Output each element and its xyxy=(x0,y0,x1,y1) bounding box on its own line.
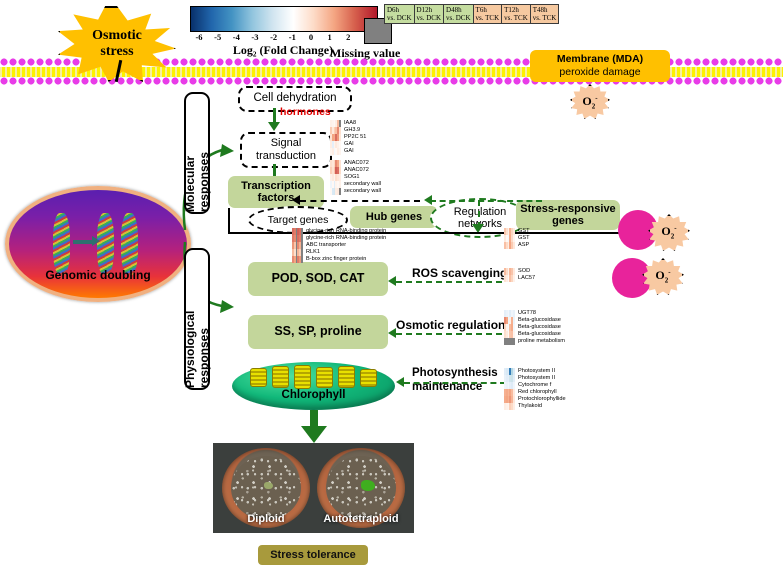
gene-label: IAA8 xyxy=(344,120,366,127)
heatmap-cell xyxy=(513,331,515,338)
heatmap-hub-genes: glycine-rich RNA-binding proteinglycine-… xyxy=(292,228,386,263)
membrane-damage-box: Membrane (MDA) peroxide damage xyxy=(530,50,670,82)
antioxidant-enzymes-box: POD, SOD, CAT xyxy=(248,262,388,296)
osmotic-arrow-line xyxy=(396,333,502,335)
comparison-bottom: vs. DCK xyxy=(417,14,442,22)
heatmap-cell xyxy=(513,382,515,389)
cell-dehydration-label: Cell dehydration xyxy=(253,92,336,105)
transcription-factors-box: Transcription factors xyxy=(228,176,324,208)
heatmap-row xyxy=(504,403,515,410)
gene-label: GAI xyxy=(344,148,366,155)
heatmap-row xyxy=(504,331,515,338)
heatmap-cell xyxy=(513,242,515,249)
osmotic-stress-line2: stress xyxy=(100,44,133,59)
comparison-bottom: vs. DCK xyxy=(446,14,471,22)
comparison-cell: T12hvs. TCK xyxy=(502,5,531,24)
gene-label: ANAC072 xyxy=(344,160,381,167)
hub-genes-box: Hub genes xyxy=(350,206,438,228)
molecular-responses-label: Molecular responses xyxy=(183,94,211,212)
colorbar-tick: 0 xyxy=(302,32,320,42)
signal-transduction-line1: Signal xyxy=(271,137,302,150)
doubling-arrow-head xyxy=(92,236,100,246)
phenotype-photo: Diploid Autotetraploid xyxy=(213,443,414,533)
gene-label: UGT78 xyxy=(518,310,565,317)
gene-label: GH3.9 xyxy=(344,127,366,134)
membrane-damage-line2: peroxide damage xyxy=(559,66,640,79)
granum-icon xyxy=(360,369,377,387)
heatmap-cell xyxy=(339,148,341,155)
gene-label: Protochlorophyllide xyxy=(518,396,566,403)
heatmap-cell xyxy=(513,268,515,275)
granum-icon xyxy=(272,366,289,388)
heatmap-stress-responsive: GSTGSTASP xyxy=(504,228,530,249)
superoxide-burst-upper: O2- xyxy=(648,214,690,252)
heatmap-cell xyxy=(301,242,303,249)
gene-label: PP2C 51 xyxy=(344,134,366,141)
arrow-head xyxy=(292,195,300,205)
gene-label: Beta-glucosidase xyxy=(518,331,565,338)
comparison-cell: D6hvs. DCK xyxy=(385,5,415,24)
stress-tolerance-box: Stress tolerance xyxy=(258,545,368,565)
heatmap-photosynthesis: Photosystem IIPhotosystem IICytochrome f… xyxy=(504,368,566,410)
gene-label: RLK1 xyxy=(306,249,386,256)
target-genes-label: Target genes xyxy=(268,214,329,226)
heatmap-cell xyxy=(513,389,515,396)
osmolytes-label: SS, SP, proline xyxy=(274,325,361,339)
feedback-line xyxy=(300,200,420,202)
granum-icon xyxy=(250,368,267,387)
colorbar-tick: -3 xyxy=(246,32,264,42)
gene-label: B-box zinc finger protein xyxy=(306,256,386,263)
superoxide-burst-lower: O2- xyxy=(642,258,684,296)
comparison-top: T12h xyxy=(504,6,528,14)
arrow-head xyxy=(396,377,404,387)
ros-arrow-line xyxy=(396,281,502,283)
arrow-head xyxy=(268,122,280,131)
osmolytes-box: SS, SP, proline xyxy=(248,315,388,349)
stress-responsive-line2: genes xyxy=(552,215,584,227)
colorbar-tick: -5 xyxy=(209,32,227,42)
colorbar-tick: 2 xyxy=(339,32,357,42)
heatmap-row xyxy=(504,368,515,375)
gene-label: Beta-glucosidase xyxy=(518,324,565,331)
heatmap-cell xyxy=(513,338,515,345)
heatmap-osmotic-regulation: UGT78Beta-glucosidaseBeta-glucosidaseBet… xyxy=(504,310,565,345)
photosynthesis-arrow-line xyxy=(404,382,506,384)
heatmap-row xyxy=(504,375,515,382)
comparison-cell: D48hvs. DCK xyxy=(444,5,474,24)
heatmap-row xyxy=(504,242,515,249)
colorbar-tick: -1 xyxy=(283,32,301,42)
heatmap-row xyxy=(292,242,303,249)
comparison-bottom: vs. TCK xyxy=(533,14,557,22)
heatmap-row xyxy=(504,382,515,389)
gene-label: SOD xyxy=(518,268,535,275)
heatmap-cell xyxy=(301,228,303,235)
heatmap-cell xyxy=(301,235,303,242)
heatmap-row xyxy=(504,310,515,317)
superoxide-burst-membrane: O2- xyxy=(570,84,610,120)
arrow-head xyxy=(388,276,396,286)
gene-label: glycine-rich RNA-binding protein xyxy=(306,228,386,235)
heatmap-cell xyxy=(339,174,341,181)
heatmap-cell xyxy=(513,403,515,410)
pot-diploid: Diploid xyxy=(222,448,310,528)
colorbar-tick: -2 xyxy=(265,32,283,42)
comparison-top: T6h xyxy=(476,6,500,14)
stress-responsive-genes-box: Stress-responsive genes xyxy=(516,200,620,230)
heatmap-cell xyxy=(339,120,341,127)
gene-label: ABC transporter xyxy=(306,242,386,249)
comparison-cell: T48hvs. TCK xyxy=(530,5,559,24)
comparison-cell: T6hvs. TCK xyxy=(473,5,502,24)
antioxidant-enzymes-label: POD, SOD, CAT xyxy=(272,272,365,286)
heatmap-row xyxy=(330,127,341,134)
gene-label: GST xyxy=(518,235,530,242)
gene-label: Photosystem II xyxy=(518,375,566,382)
heatmap-row xyxy=(504,389,515,396)
colorbar-tick: 1 xyxy=(321,32,339,42)
heatmap-ros-scavenging: SODLAC57 xyxy=(504,268,535,282)
heatmap-cell xyxy=(513,375,515,382)
heatmap-cell xyxy=(339,134,341,141)
heatmap-row xyxy=(504,228,515,235)
heatmap-row xyxy=(504,235,515,242)
heatmap-cell xyxy=(301,249,303,256)
gene-label: secondary wall xyxy=(344,181,381,188)
comparison-bottom: vs. TCK xyxy=(476,14,500,22)
comparison-top: T48h xyxy=(533,6,557,14)
doubling-arrow xyxy=(73,240,93,244)
gene-label: Beta-glucosidase xyxy=(518,317,565,324)
chloroplast: Chlorophyll xyxy=(232,362,395,410)
stress-tolerance-label: Stress tolerance xyxy=(270,549,356,561)
heatmap-row xyxy=(292,235,303,242)
chlorophyll-label: Chlorophyll xyxy=(232,389,395,401)
separator-line xyxy=(228,232,620,234)
physiological-responses-label: Physiological responses xyxy=(183,250,211,388)
ros-scavenging-label: ROS scavenging xyxy=(412,266,507,280)
gene-label: Red chlorophyll xyxy=(518,389,566,396)
heatmap-row xyxy=(330,141,341,148)
photo-label-left: Diploid xyxy=(222,513,310,525)
heatmap-row xyxy=(330,134,341,141)
comparison-bottom: vs. TCK xyxy=(504,14,528,22)
heatmap-row xyxy=(504,324,515,331)
seedling-icon xyxy=(361,480,375,491)
comparison-bottom: vs. DCK xyxy=(387,14,412,22)
heatmap-cell xyxy=(513,317,515,324)
separator-line xyxy=(228,208,230,234)
gene-label: Thylakoid xyxy=(518,403,566,410)
membrane-damage-line1: Membrane (MDA) xyxy=(557,53,643,66)
comparison-top: D48h xyxy=(446,6,471,14)
heatmap-cell xyxy=(339,188,341,195)
arrow-head xyxy=(301,426,327,443)
gene-label: Cytochrome f xyxy=(518,382,566,389)
heatmap-cell xyxy=(513,368,515,375)
stress-responsive-line1: Stress-responsive xyxy=(520,203,615,215)
signal-transduction-box: Signal transduction xyxy=(240,132,332,168)
seedling-icon xyxy=(264,482,273,489)
heatmap-row xyxy=(292,256,303,263)
colorbar-tick-labels: -6-5-4-3-2-10123 xyxy=(190,32,376,42)
regulation-feedback-line xyxy=(430,200,542,202)
comparison-top: D6h xyxy=(387,6,412,14)
osmotic-stress-line1: Osmotic xyxy=(92,28,142,43)
gene-label: GST xyxy=(518,228,530,235)
heatmap-cell xyxy=(301,256,303,263)
heatmap-cell xyxy=(513,310,515,317)
regulation-networks-line1: Regulation xyxy=(454,206,507,218)
heatmap-cell xyxy=(513,228,515,235)
transcription-factors-line1: Transcription xyxy=(241,180,311,192)
heatmap-row xyxy=(330,148,341,155)
gene-label: LAC57 xyxy=(518,275,535,282)
heatmap-cell xyxy=(339,167,341,174)
gene-label: GAI xyxy=(344,141,366,148)
photosynthesis-maintenance-label: Photosynthesis maintenance xyxy=(412,366,498,395)
hub-genes-label: Hub genes xyxy=(366,211,422,223)
osmotic-regulation-label: Osmotic regulation xyxy=(396,318,505,332)
heatmap-cell xyxy=(339,141,341,148)
transcription-factors-line2: factors xyxy=(258,192,295,204)
heatmap-cell xyxy=(513,324,515,331)
hormones-label: hormones xyxy=(280,106,331,118)
heatmap-row xyxy=(330,160,341,167)
gene-label: ANAC072 xyxy=(344,167,381,174)
colorbar-tick: -4 xyxy=(227,32,245,42)
colorbar-gradient xyxy=(190,6,378,32)
arrow-head xyxy=(388,328,396,338)
dna-helix-icon xyxy=(53,213,70,275)
heatmap-row xyxy=(330,188,341,195)
granum-icon xyxy=(338,366,355,388)
heatmap-row xyxy=(504,275,515,282)
physiological-responses-bar: Physiological responses xyxy=(184,248,210,390)
heatmap-row xyxy=(292,249,303,256)
pot-autotetraploid: Autotetraploid xyxy=(317,448,405,528)
heatmap-cell xyxy=(513,275,515,282)
heatmap-cell xyxy=(339,160,341,167)
heatmap-hormone-signalling: IAA8GH3.9PP2C 51GAIGAI xyxy=(330,120,366,155)
gene-label: proline metabolism xyxy=(518,338,565,345)
heatmap-row xyxy=(330,167,341,174)
heatmap-row xyxy=(504,317,515,324)
gene-label: SOG1 xyxy=(344,174,381,181)
heatmap-row xyxy=(330,181,341,188)
heatmap-cell xyxy=(339,127,341,134)
gene-label: secondary wall xyxy=(344,188,381,195)
heatmap-cell xyxy=(513,235,515,242)
heatmap-row xyxy=(292,228,303,235)
heatmap-row xyxy=(504,268,515,275)
signal-transduction-line2: transduction xyxy=(256,150,316,163)
comparison-top: D12h xyxy=(417,6,442,14)
gene-label: ASP xyxy=(518,242,530,249)
photo-label-right: Autotetraploid xyxy=(317,513,405,525)
heatmap-transcription-factors: ANAC072ANAC072SOG1secondary wallsecondar… xyxy=(330,160,381,195)
gene-label: glycine-rich RNA-binding protein xyxy=(306,235,386,242)
comparison-header-table: D6hvs. DCKD12hvs. DCKD48hvs. DCKT6hvs. T… xyxy=(384,4,559,24)
comparison-cell: D12hvs. DCK xyxy=(414,5,444,24)
heatmap-cell xyxy=(339,181,341,188)
heatmap-row xyxy=(330,120,341,127)
heatmap-row xyxy=(504,396,515,403)
gene-label: Photosystem II xyxy=(518,368,566,375)
arrow-head xyxy=(424,195,432,205)
granum-icon xyxy=(316,367,333,388)
colorbar-tick: -6 xyxy=(190,32,208,42)
molecular-responses-bar: Molecular responses xyxy=(184,92,210,214)
heatmap-row xyxy=(330,174,341,181)
heatmap-cell xyxy=(513,396,515,403)
photosynthesis-line1: Photosynthesis xyxy=(412,367,498,379)
granum-icon xyxy=(294,365,311,389)
heatmap-row xyxy=(504,338,515,345)
